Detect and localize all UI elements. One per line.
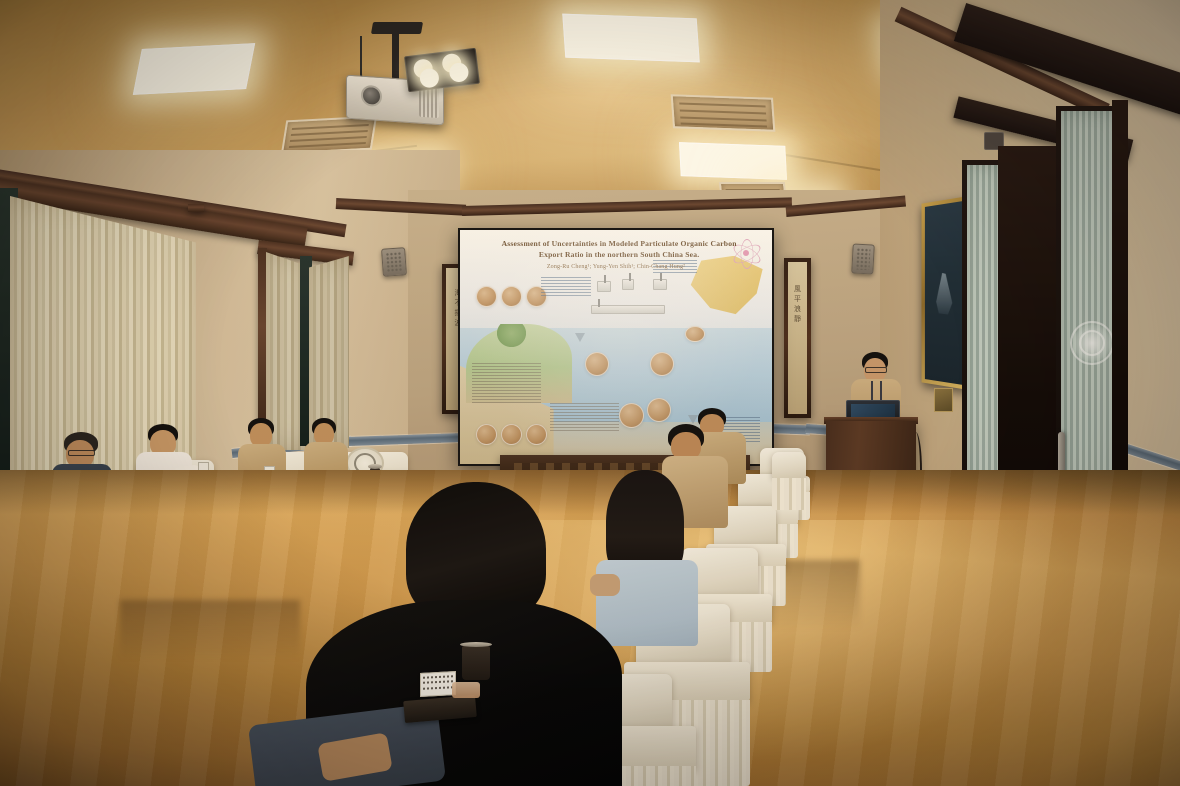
scroll-character: 風 xyxy=(794,286,801,293)
micrograph-bubble xyxy=(501,424,522,445)
micrograph-bubble xyxy=(685,326,705,342)
scroll-character: 靜 xyxy=(794,316,801,323)
speaker-grille xyxy=(855,248,870,271)
snack-item xyxy=(452,682,480,698)
slide-title-line1: Assessment of Uncertainties in Modeled P… xyxy=(482,238,757,249)
speaker-grille xyxy=(385,251,402,272)
wall-speaker-small xyxy=(381,247,407,277)
scroll-character: 平 xyxy=(794,296,801,303)
micrograph-bubble xyxy=(585,352,609,376)
presenter-lanyard xyxy=(880,381,882,401)
projector-lens xyxy=(361,85,382,107)
ceiling-light-panel xyxy=(562,14,699,63)
window-frame-left-inner xyxy=(188,204,204,212)
wall-speaker xyxy=(851,243,875,274)
slide-authors: Zong-Ru Cheng¹; Yung-Yen Shih¹; Chin-Cha… xyxy=(491,264,741,270)
slide-title: Assessment of Uncertainties in Modeled P… xyxy=(482,238,757,260)
vessel-deck-box xyxy=(653,279,667,290)
poster-text-block xyxy=(472,363,541,405)
ceiling-air-vent xyxy=(671,94,776,132)
conference-room-photo: 海不揚波 風平浪靜 xyxy=(0,0,1180,786)
ceiling-light-panel xyxy=(679,142,787,180)
research-vessel-icon xyxy=(591,305,665,314)
name-card xyxy=(420,671,456,697)
window-frame-left2-side xyxy=(258,248,267,444)
projector-vent-grille xyxy=(419,87,439,118)
calligraphy-scroll-right: 風平浪靜 xyxy=(784,258,811,418)
ceiling-air-vent xyxy=(281,116,377,155)
ceiling-light-panel xyxy=(133,43,255,95)
lidded-teacup xyxy=(462,646,490,680)
micrograph-bubble xyxy=(476,424,497,445)
slide-title-line2: Export Ratio in the northern South China… xyxy=(482,249,757,260)
presenter-glasses-icon xyxy=(865,367,887,373)
painting-ship-motif xyxy=(935,268,954,317)
micrograph-bubble xyxy=(526,424,547,445)
wall-plaque xyxy=(934,388,953,412)
scroll-character: 浪 xyxy=(794,306,801,313)
micrograph-bubble xyxy=(501,286,522,307)
poster-tree xyxy=(497,324,525,347)
attendee-glasses-icon xyxy=(68,450,95,456)
vessel-deck-box xyxy=(597,281,611,292)
micrograph-bubble xyxy=(476,286,497,307)
micrograph-bubble xyxy=(650,352,674,376)
chair-skirt xyxy=(772,478,806,510)
flux-arrow-icon xyxy=(575,333,585,342)
painting-canvas xyxy=(925,201,965,385)
vessel-deck-box xyxy=(622,279,634,290)
scroll-paper: 風平浪靜 xyxy=(788,262,807,414)
scroll-characters: 風平浪靜 xyxy=(792,286,804,323)
armchair-row-far[interactable] xyxy=(770,452,810,512)
poster-text-block xyxy=(541,277,591,296)
poster-text-block xyxy=(550,403,619,431)
attendee-right-1 xyxy=(246,482,666,786)
chair-back xyxy=(772,452,806,478)
door-emblem-icon xyxy=(1070,321,1114,365)
